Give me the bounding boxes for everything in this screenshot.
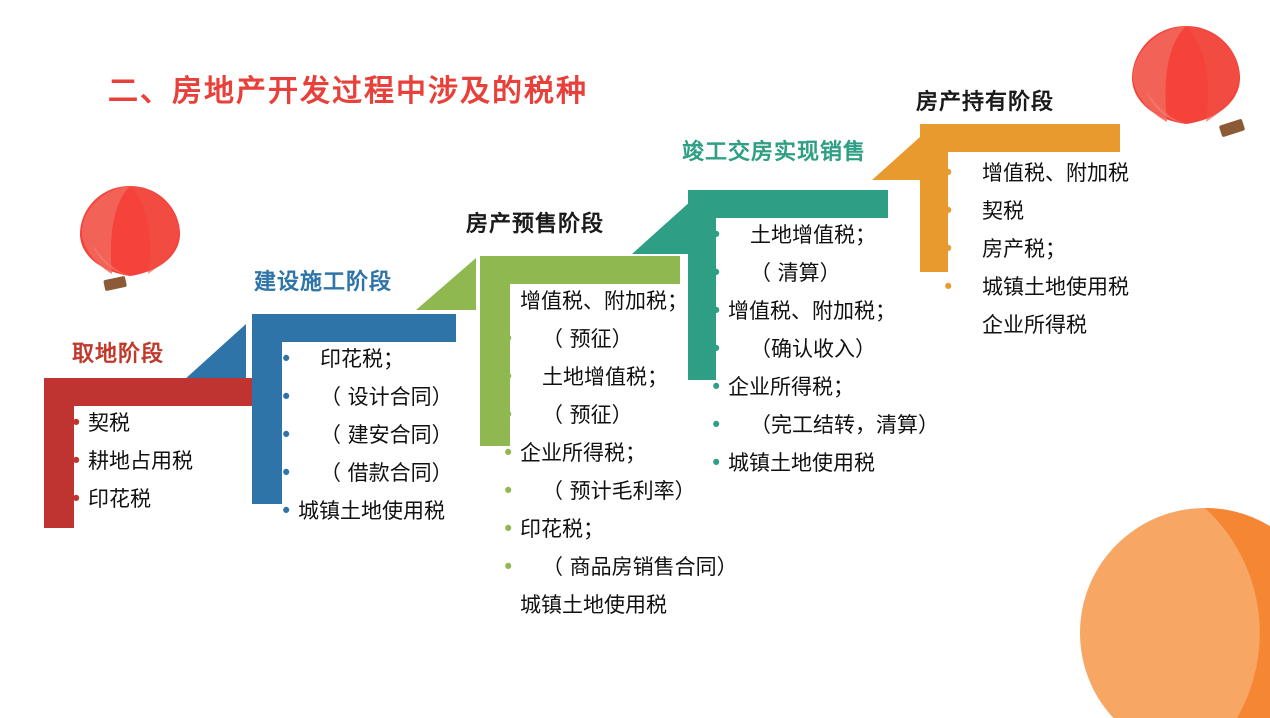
list-item: • 增值税、附加税； [502, 282, 738, 320]
stage-items-4: • 土地增值税； • （ 清算） • 增值税、附加税； • （确认收入） • 企… [710, 216, 939, 482]
list-item: • （ 预征） [502, 320, 738, 358]
bullet-icon: • [280, 416, 298, 454]
list-item: • 土地增值税； [710, 216, 939, 254]
list-item: • 土地增值税； [502, 358, 738, 396]
item-text: 增值税、附加税 [960, 154, 1129, 192]
stage-bar-top-2 [252, 314, 456, 342]
item-text: 增值税、附加税； [728, 292, 896, 330]
hot-air-balloon-left-icon [72, 182, 188, 292]
bullet-icon: • [710, 254, 728, 292]
list-item: • 增值税、附加税 [942, 154, 1129, 192]
stage-bar-top-3 [480, 256, 680, 284]
list-item: • （ 借款合同） [280, 454, 453, 492]
item-text: 城镇土地使用税 [298, 492, 445, 530]
list-item: • 城镇土地使用税 [502, 586, 738, 624]
item-text: （完工结转，清算） [728, 406, 939, 444]
stage-bar-top-4 [688, 190, 888, 218]
item-text: 印花税； [298, 340, 404, 378]
bullet-icon: • [710, 216, 728, 254]
item-text: （ 预征） [520, 320, 633, 358]
list-item: • 耕地占用税 [70, 442, 193, 480]
bullet-icon: • [70, 480, 88, 518]
bullet-icon: • [942, 154, 960, 192]
stage-title-1: 取地阶段 [72, 336, 164, 368]
list-item: • 企业所得税； [502, 434, 738, 472]
item-text: 契税 [960, 192, 1024, 230]
item-text: （确认收入） [728, 330, 876, 368]
list-item: • （ 建安合同） [280, 416, 453, 454]
bullet-icon: • [280, 454, 298, 492]
item-text: （ 建安合同） [298, 416, 453, 454]
item-text: （ 设计合同） [298, 378, 453, 416]
list-item: • 企业所得税； [710, 368, 939, 406]
item-text: 企业所得税 [960, 306, 1087, 344]
stage-bar-top-5 [920, 124, 1120, 152]
item-text: 增值税、附加税； [520, 282, 688, 320]
list-item: • （ 设计合同） [280, 378, 453, 416]
list-item: • 印花税 [70, 480, 193, 518]
item-text: 土地增值税； [728, 216, 876, 254]
item-text: 城镇土地使用税 [960, 268, 1129, 306]
bullet-icon: • [942, 192, 960, 230]
list-item: • 契税 [942, 192, 1129, 230]
list-item: • 增值税、附加税； [710, 292, 939, 330]
list-item: • 企业所得税 [942, 306, 1129, 344]
bullet-icon: • [70, 442, 88, 480]
item-text: 房产税； [960, 230, 1066, 268]
item-text: （ 预征） [520, 396, 633, 434]
bullet-icon: • [710, 292, 728, 330]
bullet-icon: • [710, 444, 728, 482]
bullet-icon: • [942, 268, 960, 306]
stage-items-3: • 增值税、附加税； • （ 预征） • 土地增值税； • （ 预征） • 企业… [502, 282, 738, 624]
item-text: （ 清算） [728, 254, 841, 292]
bullet-icon: • [710, 368, 728, 406]
stage-items-5: • 增值税、附加税 • 契税 • 房产税； • 城镇土地使用税 • 企业所得税 [942, 154, 1129, 344]
item-text: （ 商品房销售合同） [520, 548, 738, 586]
item-text: 契税 [88, 404, 130, 442]
stage-bar-top-1 [44, 378, 252, 406]
bullet-icon: • [70, 404, 88, 442]
item-text: 城镇土地使用税 [520, 586, 667, 624]
stage-items-1: • 契税 • 耕地占用税 • 印花税 [70, 404, 193, 518]
slide-canvas: 二、房地产开发过程中涉及的税种 取地阶段 • 契税 • 耕地占用税 • 印花税 … [0, 0, 1270, 718]
item-text: 企业所得税； [728, 368, 854, 406]
stage-items-2: • 印花税； • （ 设计合同） • （ 建安合同） • （ 借款合同） • 城… [280, 340, 453, 530]
bullet-icon: • [502, 358, 520, 396]
list-item: • 印花税； [280, 340, 453, 378]
list-item: • （完工结转，清算） [710, 406, 939, 444]
bullet-icon: • [502, 510, 520, 548]
list-item: • （ 清算） [710, 254, 939, 292]
stage-title-2: 建设施工阶段 [254, 264, 392, 296]
bullet-icon: • [280, 378, 298, 416]
list-item: • 城镇土地使用税 [280, 492, 453, 530]
list-item: • 城镇土地使用税 [710, 444, 939, 482]
item-text: （ 预计毛利率） [520, 472, 696, 510]
list-item: • （确认收入） [710, 330, 939, 368]
list-item: • （ 预征） [502, 396, 738, 434]
item-text: 城镇土地使用税 [728, 444, 875, 482]
bullet-icon: • [280, 340, 298, 378]
bullet-icon: • [502, 548, 520, 586]
list-item: • （ 商品房销售合同） [502, 548, 738, 586]
list-item: • 房产税； [942, 230, 1129, 268]
stage-arrow-3-icon [632, 200, 692, 254]
list-item: • 契税 [70, 404, 193, 442]
list-item: • 城镇土地使用税 [942, 268, 1129, 306]
bullet-icon: • [710, 406, 728, 444]
bullet-icon: • [502, 472, 520, 510]
item-text: 企业所得税； [520, 434, 646, 472]
bullet-icon: • [280, 492, 298, 530]
bullet-icon: • [710, 330, 728, 368]
item-text: 耕地占用税 [88, 442, 193, 480]
item-text: 印花税； [520, 510, 604, 548]
item-text: （ 借款合同） [298, 454, 453, 492]
stage-bar-left-2 [252, 314, 282, 504]
stage-arrow-2-icon [416, 258, 476, 310]
bullet-icon: • [942, 230, 960, 268]
list-item: • （ 预计毛利率） [502, 472, 738, 510]
stage-title-3: 房产预售阶段 [466, 206, 604, 238]
stage-arrow-1-icon [184, 324, 246, 380]
list-item: • 印花税； [502, 510, 738, 548]
bullet-icon: • [502, 320, 520, 358]
stage-title-5: 房产持有阶段 [916, 84, 1054, 116]
item-text: 印花税 [88, 480, 151, 518]
stage-title-4: 竣工交房实现销售 [682, 134, 866, 166]
page-title: 二、房地产开发过程中涉及的税种 [108, 66, 588, 110]
bullet-icon: • [502, 396, 520, 434]
hot-air-balloon-right-icon [1124, 22, 1250, 144]
bullet-icon: • [502, 434, 520, 472]
item-text: 土地增值税； [520, 358, 668, 396]
orange-corner-circle [1080, 508, 1270, 718]
